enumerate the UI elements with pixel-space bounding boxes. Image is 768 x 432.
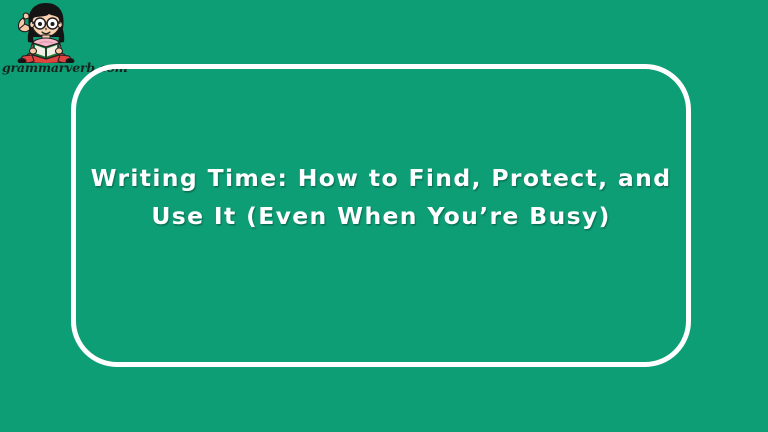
page-title: Writing Time: How to Find, Protect, and … (85, 159, 677, 235)
girl-reading-book-icon (8, 1, 84, 63)
page-title-line-2: Use It (Even When You’re Busy) (85, 197, 677, 235)
page-title-line-1: Writing Time: How to Find, Protect, and (85, 159, 677, 197)
slide-canvas: grammarverb.com Writing Time: How to Fin… (0, 0, 768, 432)
title-block: Writing Time: How to Find, Protect, and … (71, 64, 691, 367)
